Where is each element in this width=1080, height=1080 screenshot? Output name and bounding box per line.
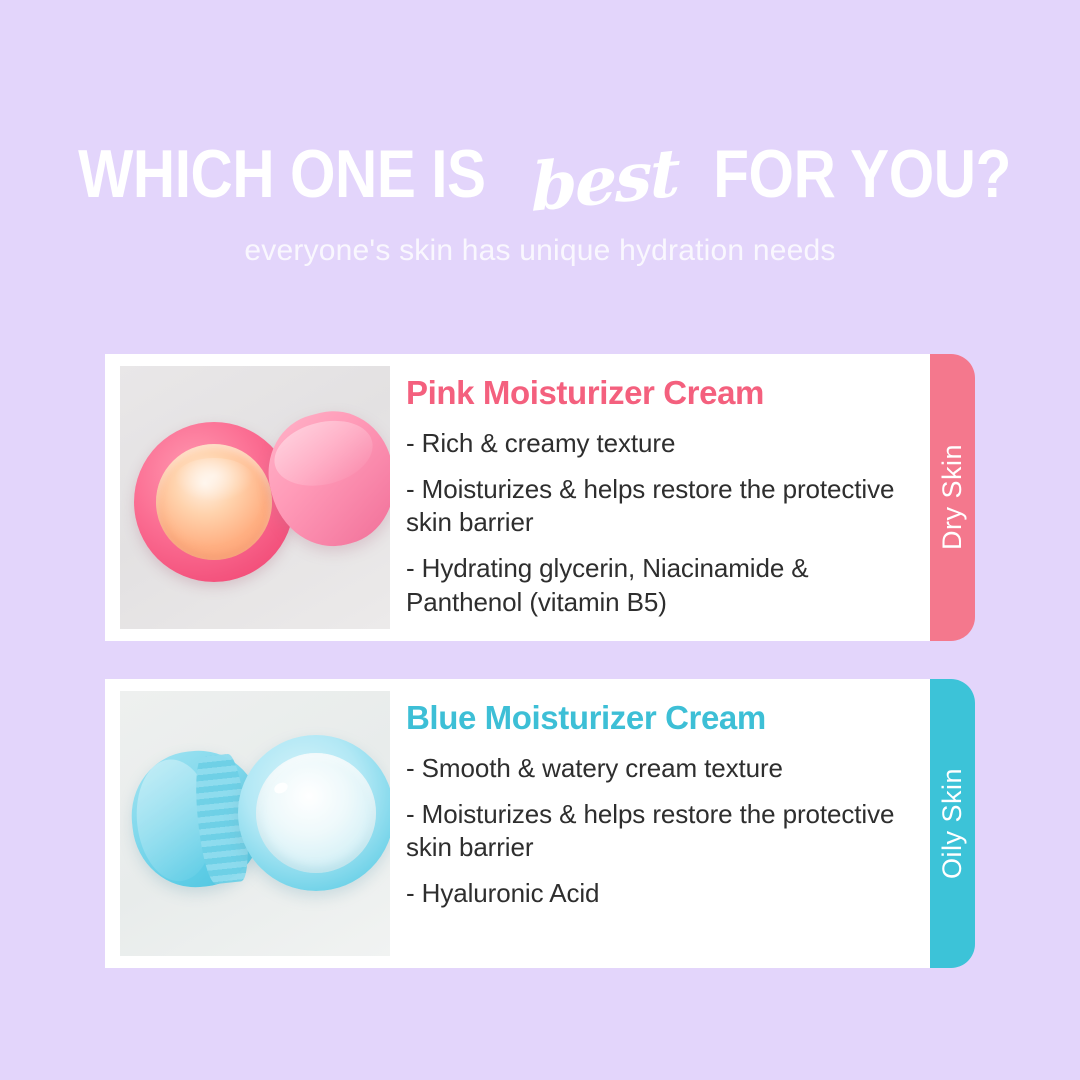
- list-item: - Rich & creamy texture: [406, 427, 904, 460]
- headline-script-word: best: [531, 139, 678, 221]
- header: WHICH ONE IS best FOR YOU? everyone's sk…: [0, 0, 1080, 330]
- skin-type-tab-label-dry: Dry Skin: [937, 444, 968, 550]
- list-item: - Moisturizes & helps restore the protec…: [406, 473, 904, 540]
- page-subtitle: everyone's skin has unique hydration nee…: [244, 234, 835, 268]
- skin-type-tab-label-oily: Oily Skin: [937, 768, 968, 879]
- product-image-blue: [120, 691, 390, 956]
- cream-surface-icon: [256, 753, 376, 873]
- feature-list-blue: - Smooth & watery cream texture - Moistu…: [406, 752, 904, 924]
- skin-type-tab-dry[interactable]: Dry Skin: [930, 354, 975, 641]
- list-item: - Hyaluronic Acid: [406, 877, 904, 910]
- list-item: - Moisturizes & helps restore the protec…: [406, 798, 904, 865]
- headline-part1: WHICH ONE IS: [78, 140, 485, 208]
- feature-list-pink: - Rich & creamy texture - Moisturizes & …: [406, 427, 904, 632]
- list-item: - Smooth & watery cream texture: [406, 752, 904, 785]
- headline-part2: FOR YOU?: [713, 140, 1011, 208]
- product-card-blue[interactable]: Blue Moisturizer Cream - Smooth & watery…: [105, 679, 930, 968]
- product-image-pink: [120, 366, 390, 629]
- skin-type-tab-oily[interactable]: Oily Skin: [930, 679, 975, 968]
- product-title-pink: Pink Moisturizer Cream: [406, 376, 904, 411]
- page-title: WHICH ONE IS best FOR YOU?: [45, 140, 1035, 208]
- product-details-blue: Blue Moisturizer Cream - Smooth & watery…: [390, 679, 930, 968]
- product-details-pink: Pink Moisturizer Cream - Rich & creamy t…: [390, 354, 930, 641]
- product-card-pink[interactable]: Pink Moisturizer Cream - Rich & creamy t…: [105, 354, 930, 641]
- list-item: - Hydrating glycerin, Niacinamide & Pant…: [406, 552, 904, 619]
- cream-highlight-icon: [174, 458, 254, 502]
- product-title-blue: Blue Moisturizer Cream: [406, 701, 904, 736]
